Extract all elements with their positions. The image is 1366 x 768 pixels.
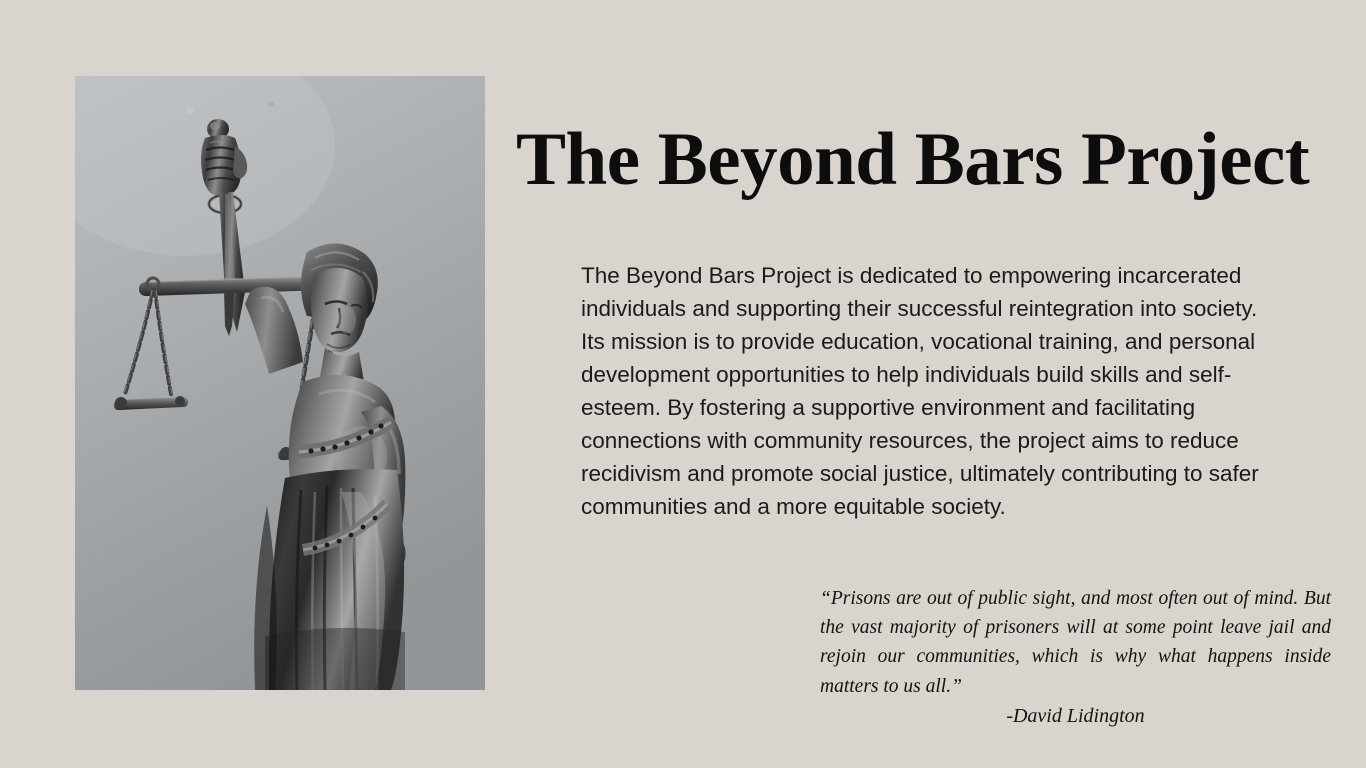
mission-description: The Beyond Bars Project is dedicated to … [581, 259, 1287, 523]
quote-attribution: -David Lidington [820, 701, 1331, 731]
statue-illustration [75, 76, 485, 690]
quote-text: “Prisons are out of public sight, and mo… [820, 584, 1331, 701]
page-title: The Beyond Bars Project [516, 122, 1336, 197]
lady-justice-statue-photo [75, 76, 485, 690]
pull-quote: “Prisons are out of public sight, and mo… [820, 584, 1331, 731]
slide-canvas: The Beyond Bars Project The Beyond Bars … [0, 0, 1366, 768]
